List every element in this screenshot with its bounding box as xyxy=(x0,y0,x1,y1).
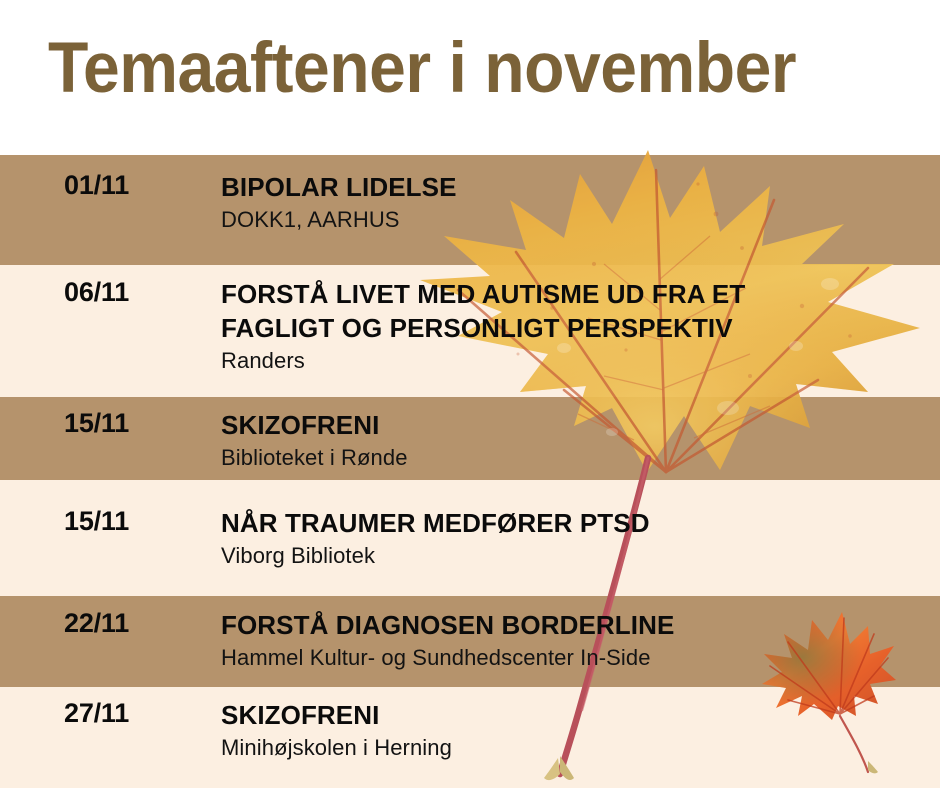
event-body: BIPOLAR LIDELSE DOKK1, AARHUS xyxy=(221,170,932,235)
event-date: 22/11 xyxy=(64,608,129,639)
event-body: SKIZOFRENI Minihøjskolen i Herning xyxy=(221,698,932,763)
event-list: 01/11 BIPOLAR LIDELSE DOKK1, AARHUS 06/1… xyxy=(0,0,940,788)
event-body: FORSTÅ LIVET MED AUTISME UD FRA ET FAGLI… xyxy=(221,277,932,376)
event-venue: Viborg Bibliotek xyxy=(221,541,932,571)
event-date: 06/11 xyxy=(64,277,129,308)
event-venue: Randers xyxy=(221,346,932,376)
poster-canvas: Temaaftener i november xyxy=(0,0,940,788)
event-title: FORSTÅ LIVET MED AUTISME UD FRA ET FAGLI… xyxy=(221,277,932,345)
event-title: NÅR TRAUMER MEDFØRER PTSD xyxy=(221,506,932,540)
event-title: SKIZOFRENI xyxy=(221,408,932,442)
event-date: 27/11 xyxy=(64,698,129,729)
event-body: FORSTÅ DIAGNOSEN BORDERLINE Hammel Kultu… xyxy=(221,608,932,673)
event-date: 15/11 xyxy=(64,408,129,439)
event-venue: Hammel Kultur- og Sundhedscenter In-Side xyxy=(221,643,932,673)
event-venue: Minihøjskolen i Herning xyxy=(221,733,932,763)
event-body: NÅR TRAUMER MEDFØRER PTSD Viborg Bibliot… xyxy=(221,506,932,571)
event-venue: Biblioteket i Rønde xyxy=(221,443,932,473)
event-date: 01/11 xyxy=(64,170,129,201)
event-body: SKIZOFRENI Biblioteket i Rønde xyxy=(221,408,932,473)
event-date: 15/11 xyxy=(64,506,129,537)
event-title: FORSTÅ DIAGNOSEN BORDERLINE xyxy=(221,608,932,642)
event-title: BIPOLAR LIDELSE xyxy=(221,170,932,204)
event-venue: DOKK1, AARHUS xyxy=(221,205,932,235)
event-title: SKIZOFRENI xyxy=(221,698,932,732)
